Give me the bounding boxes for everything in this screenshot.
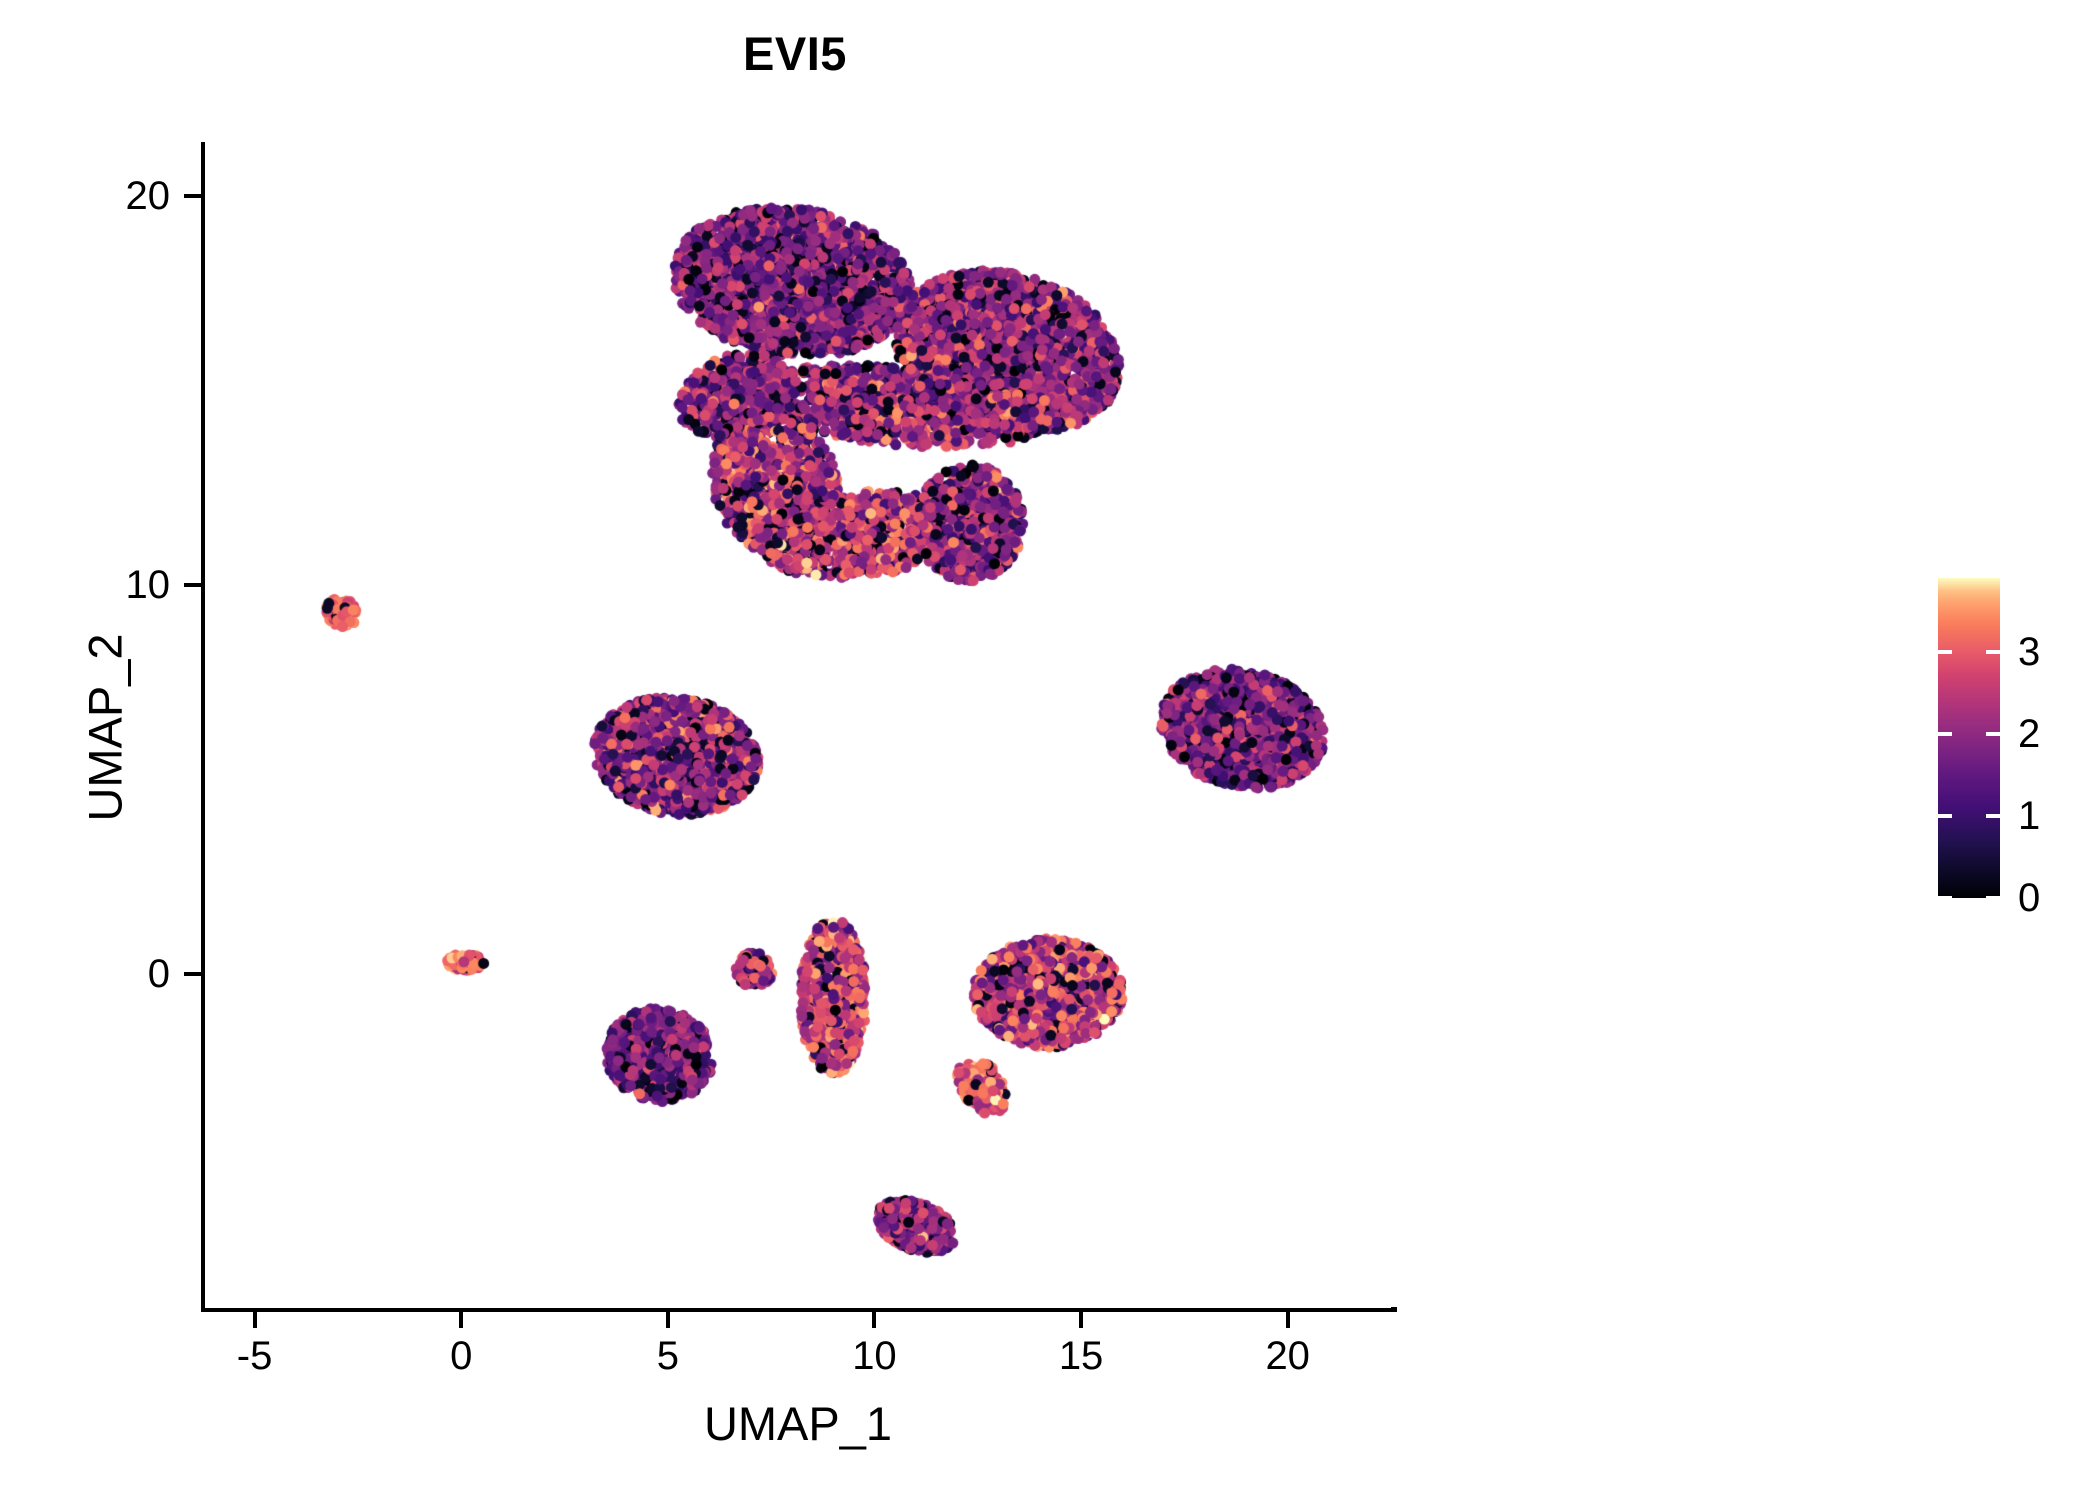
x-tick-mark bbox=[1286, 1311, 1290, 1328]
colorbar-tick-mark bbox=[1986, 732, 2000, 736]
page-title: EVI5 bbox=[0, 26, 1590, 81]
x-tick-mark bbox=[459, 1311, 463, 1328]
colorbar-tick-mark bbox=[1986, 814, 2000, 818]
colorbar-tick-mark bbox=[1938, 896, 1952, 900]
x-tick-label: 20 bbox=[1228, 1334, 1348, 1378]
x-tick-label: 15 bbox=[1021, 1334, 1141, 1378]
scatter-canvas bbox=[205, 142, 1391, 1308]
y-tick-label: 20 bbox=[60, 176, 170, 216]
plot-panel bbox=[205, 142, 1391, 1308]
colorbar-tick-mark bbox=[1938, 650, 1952, 654]
x-tick-label: -5 bbox=[195, 1334, 315, 1378]
x-tick-mark bbox=[253, 1311, 257, 1328]
colorbar-tick-label: 3 bbox=[2018, 632, 2040, 672]
colorbar-tick-label: 1 bbox=[2018, 796, 2040, 836]
x-tick-mark bbox=[1079, 1311, 1083, 1328]
colorbar-legend: 0123 bbox=[1938, 578, 2000, 898]
y-axis-label: UMAP_2 bbox=[78, 328, 133, 1128]
x-tick-label: 5 bbox=[608, 1334, 728, 1378]
y-tick-mark bbox=[184, 583, 201, 587]
y-tick-mark bbox=[184, 972, 201, 976]
colorbar-tick-label: 2 bbox=[2018, 714, 2040, 754]
y-tick-mark bbox=[184, 194, 201, 198]
x-axis-label: UMAP_1 bbox=[205, 1396, 1391, 1451]
x-tick-mark bbox=[872, 1311, 876, 1328]
x-tick-label: 0 bbox=[401, 1334, 521, 1378]
x-tick-label: 10 bbox=[814, 1334, 934, 1378]
x-tick-mark bbox=[666, 1311, 670, 1328]
colorbar-tick-mark bbox=[1986, 650, 2000, 654]
colorbar-tick-label: 0 bbox=[2018, 878, 2040, 918]
colorbar-gradient bbox=[1938, 578, 2000, 898]
figure-root: EVI5 01020 -505101520 UMAP_1 UMAP_2 0123 bbox=[0, 0, 2100, 1500]
scatter-points-layer bbox=[205, 142, 1391, 1308]
colorbar-tick-mark bbox=[1938, 814, 1952, 818]
colorbar-tick-mark bbox=[1938, 732, 1952, 736]
colorbar-tick-mark bbox=[1986, 896, 2000, 900]
